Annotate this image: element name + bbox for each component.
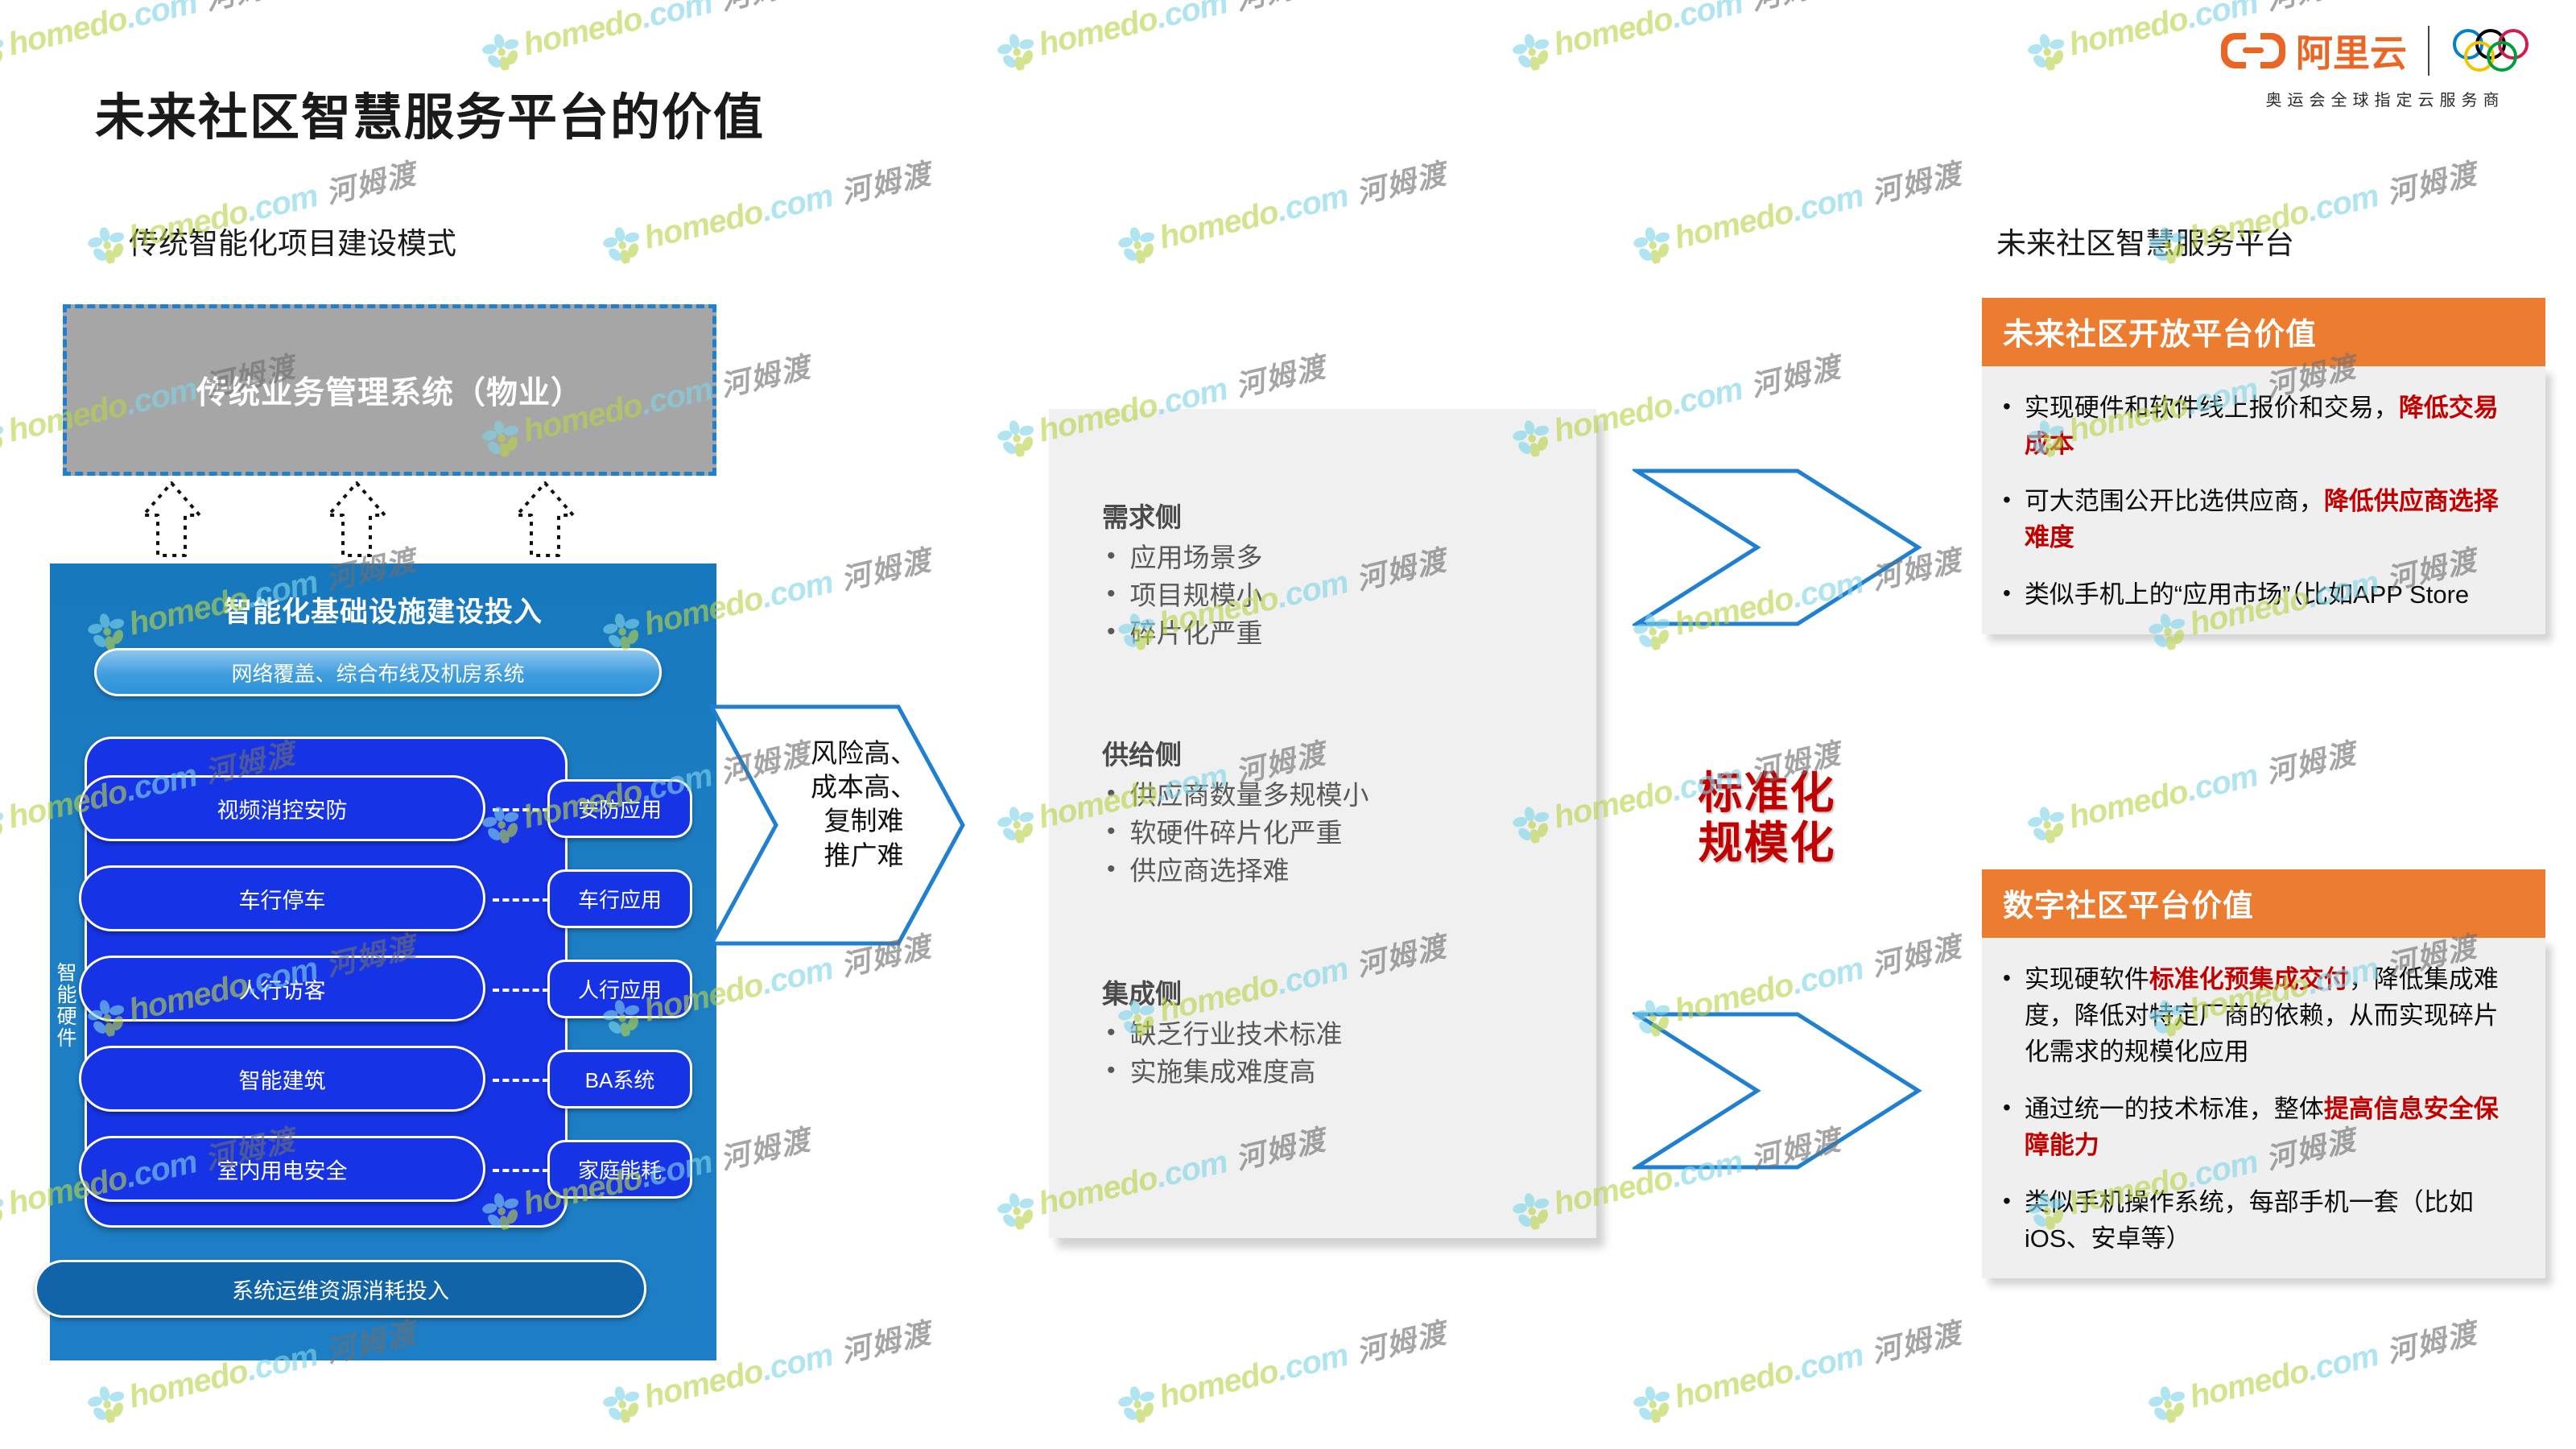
- value-card-open-platform: 未来社区开放平台价值 • 实现硬件和软件线上报价和交易，降低交易成本 • 可大范…: [1982, 298, 2545, 634]
- pain-points-panel: 需求侧 •应用场景多 •项目规模小 •碎片化严重 供给侧 •供应商数量多规模小 …: [1049, 409, 1596, 1238]
- value-card-body: • 实现硬件和软件线上报价和交易，降低交易成本 • 可大范围公开比选供应商，降低…: [1982, 366, 2545, 634]
- pain-item-label: 软硬件碎片化严重: [1130, 815, 1343, 852]
- alibaba-cloud-mark-icon: [2219, 30, 2288, 72]
- hardware-group-label: 智能硬件: [43, 962, 76, 1049]
- application-chip-label: 车行应用: [578, 884, 662, 914]
- risk-line-1: 风险高、: [771, 737, 956, 770]
- application-chip-label: 家庭能耗: [578, 1154, 662, 1184]
- legacy-system-box: 传统业务管理系统（物业）: [63, 304, 716, 476]
- standardization-text: 标准化 规模化: [1638, 769, 1896, 868]
- pain-item: •缺乏行业技术标准: [1102, 1016, 1585, 1054]
- pain-block-supply: 供给侧 •供应商数量多规模小 •软硬件碎片化严重 •供应商选择难: [1102, 733, 1585, 890]
- bullet-icon: •: [1107, 815, 1116, 849]
- bullet-icon: •: [2003, 484, 2011, 517]
- up-arrow-icon-2: [320, 479, 393, 559]
- bullet-icon: •: [2003, 1092, 2011, 1125]
- value-item: • 实现硬件和软件线上报价和交易，降低交易成本: [2003, 390, 2521, 463]
- value-item-text: 可大范围公开比选供应商，降低供应商选择难度: [2025, 484, 2521, 556]
- hardware-chip-4[interactable]: 智能建筑: [79, 1046, 485, 1112]
- pain-block-head: 需求侧: [1102, 496, 1585, 535]
- right-section-caption: 未来社区智慧服务平台: [1996, 219, 2294, 262]
- pain-item: •供应商选择难: [1102, 852, 1585, 890]
- value-seg-highlight: 标准化预集成交付: [2149, 965, 2349, 993]
- bullet-icon: •: [1107, 1054, 1116, 1088]
- bullet-icon: •: [1107, 852, 1116, 887]
- bullet-icon: •: [2003, 1185, 2011, 1218]
- value-card-title: 未来社区开放平台价值: [1982, 298, 2545, 366]
- value-seg: 实现硬件和软件线上报价和交易，: [2025, 394, 2399, 422]
- watermark: homedo.com河姆渡: [1114, 1310, 1451, 1426]
- chevron-right-icon-bottom: [1633, 1010, 1922, 1171]
- bullet-icon: •: [1107, 615, 1116, 650]
- application-chip-2[interactable]: 车行应用: [547, 869, 692, 928]
- watermark: homedo.com河姆渡: [2145, 1310, 2481, 1426]
- pain-item: •供应商数量多规模小: [1102, 777, 1585, 815]
- value-item: • 类似手机操作系统，每部手机一套（比如iOS、安卓等）: [2003, 1185, 2521, 1257]
- bullet-icon: •: [1107, 539, 1116, 574]
- page-title: 未来社区智慧服务平台的价值: [95, 76, 765, 149]
- pain-item-label: 实施集成难度高: [1130, 1054, 1316, 1092]
- up-arrow-icon-3: [509, 479, 581, 559]
- left-section-caption: 传统智能化项目建设模式: [129, 219, 456, 262]
- network-row: 网络覆盖、综合布线及机房系统: [94, 648, 662, 696]
- risk-line-3: 复制难: [771, 804, 956, 838]
- value-seg: 实现硬软件: [2025, 965, 2149, 993]
- chip-link-1: [493, 808, 549, 811]
- chip-link-2: [493, 898, 549, 902]
- value-item-text: 实现硬件和软件线上报价和交易，降低交易成本: [2025, 390, 2521, 463]
- value-item: • 通过统一的技术标准，整体提高信息安全保障能力: [2003, 1092, 2521, 1164]
- pain-item: •软硬件碎片化严重: [1102, 815, 1585, 852]
- watermark: homedo.com河姆渡: [1629, 151, 1966, 267]
- hardware-chip-3[interactable]: 人行访客: [79, 956, 485, 1022]
- watermark: homedo.com河姆渡: [478, 0, 815, 74]
- value-item-text: 类似手机操作系统，每部手机一套（比如iOS、安卓等）: [2025, 1185, 2521, 1257]
- hardware-chip-label: 智能建筑: [239, 1063, 326, 1095]
- standardization-line-2: 规模化: [1638, 819, 1896, 869]
- pain-item: •碎片化严重: [1102, 615, 1585, 653]
- alibaba-cloud-logo: 阿里云: [2219, 24, 2407, 77]
- pain-item: •应用场景多: [1102, 539, 1585, 577]
- risk-line-2: 成本高、: [771, 770, 956, 804]
- brand-name: 阿里云: [2296, 24, 2407, 77]
- watermark: homedo.com河姆渡: [1114, 151, 1451, 267]
- pain-item-label: 碎片化严重: [1130, 615, 1263, 653]
- pain-block-demand: 需求侧 •应用场景多 •项目规模小 •碎片化严重: [1102, 496, 1585, 653]
- value-item: • 类似手机上的“应用市场”（比如APP Store: [2003, 577, 2521, 613]
- operations-cost-bar: 系统运维资源消耗投入: [35, 1260, 646, 1318]
- application-chip-5[interactable]: 家庭能耗: [547, 1140, 692, 1199]
- pain-item: •项目规模小: [1102, 577, 1585, 615]
- watermark: homedo.com河姆渡: [0, 0, 299, 74]
- bullet-icon: •: [2003, 390, 2011, 423]
- hardware-chip-label: 视频消控安防: [217, 793, 348, 824]
- chip-link-4: [493, 1079, 549, 1082]
- value-item: • 可大范围公开比选供应商，降低供应商选择难度: [2003, 484, 2521, 556]
- legacy-system-label: 传统业务管理系统（物业）: [196, 368, 583, 413]
- brand-divider: [2428, 26, 2429, 76]
- value-item-text: 类似手机上的“应用市场”（比如APP Store: [2025, 577, 2469, 613]
- hardware-chip-label: 人行访客: [239, 973, 326, 1005]
- risk-line-4: 推广难: [771, 839, 956, 873]
- application-chip-label: 安防应用: [578, 794, 662, 824]
- pain-item-label: 应用场景多: [1130, 539, 1263, 577]
- up-arrow-icon-1: [135, 479, 208, 559]
- pain-item-label: 缺乏行业技术标准: [1130, 1016, 1343, 1054]
- chip-link-3: [493, 989, 549, 992]
- watermark: homedo.com河姆渡: [993, 0, 1330, 74]
- bullet-icon: •: [1107, 577, 1116, 612]
- pain-block-integration: 集成侧 •缺乏行业技术标准 •实施集成难度高: [1102, 972, 1585, 1092]
- value-item-text: 通过统一的技术标准，整体提高信息安全保障能力: [2025, 1092, 2521, 1164]
- watermark: homedo.com河姆渡: [1629, 1310, 1966, 1426]
- bullet-icon: •: [2003, 962, 2011, 995]
- chip-link-5: [493, 1169, 549, 1172]
- application-chip-4[interactable]: BA系统: [547, 1050, 692, 1108]
- hardware-chip-2[interactable]: 车行停车: [79, 865, 485, 931]
- value-seg: 可大范围公开比选供应商，: [2025, 487, 2324, 515]
- risk-arrow-text: 风险高、 成本高、 复制难 推广难: [771, 737, 956, 873]
- pain-item-label: 项目规模小: [1130, 577, 1263, 615]
- pain-item-label: 供应商选择难: [1130, 852, 1290, 890]
- olympic-rings-icon: [2450, 27, 2557, 75]
- watermark: homedo.com河姆渡: [2024, 730, 2360, 847]
- bullet-icon: •: [1107, 1016, 1116, 1051]
- bullet-icon: •: [1107, 777, 1116, 811]
- application-chip-1[interactable]: 安防应用: [547, 779, 692, 838]
- chevron-right-icon-top: [1633, 467, 1922, 628]
- value-card-digital-community: 数字社区平台价值 • 实现硬软件标准化预集成交付，降低集成难度，降低对特定厂商的…: [1982, 869, 2545, 1278]
- value-item: • 实现硬软件标准化预集成交付，降低集成难度，降低对特定厂商的依赖，从而实现碎片…: [2003, 962, 2521, 1071]
- value-item-text: 实现硬软件标准化预集成交付，降低集成难度，降低对特定厂商的依赖，从而实现碎片化需…: [2025, 962, 2521, 1071]
- pain-block-head: 供给侧: [1102, 733, 1585, 772]
- pain-block-head: 集成侧: [1102, 972, 1585, 1011]
- value-card-title: 数字社区平台价值: [1982, 869, 2545, 938]
- brand-subtitle: 奥运会全球指定云服务商: [2219, 87, 2552, 110]
- watermark: homedo.com河姆渡: [599, 151, 935, 267]
- infrastructure-title: 智能化基础设施建设投入: [50, 589, 716, 630]
- hardware-chip-1[interactable]: 视频消控安防: [79, 775, 485, 841]
- hardware-chip-label: 室内用电安全: [217, 1154, 348, 1185]
- application-chip-label: 人行应用: [578, 974, 662, 1004]
- value-card-body: • 实现硬软件标准化预集成交付，降低集成难度，降低对特定厂商的依赖，从而实现碎片…: [1982, 938, 2545, 1278]
- bullet-icon: •: [2003, 577, 2011, 610]
- value-seg: 通过统一的技术标准，整体: [2025, 1095, 2324, 1123]
- application-chip-3[interactable]: 人行应用: [547, 960, 692, 1018]
- watermark: homedo.com河姆渡: [1509, 0, 1845, 74]
- hardware-chip-label: 车行停车: [239, 883, 326, 914]
- pain-item: •实施集成难度高: [1102, 1054, 1585, 1092]
- hardware-chip-5[interactable]: 室内用电安全: [79, 1136, 485, 1202]
- pain-item-label: 供应商数量多规模小: [1130, 777, 1369, 815]
- brand-block: 阿里云 奥运会全球指定云服务商: [2219, 24, 2557, 110]
- standardization-line-1: 标准化: [1638, 769, 1896, 819]
- application-chip-label: BA系统: [585, 1064, 655, 1094]
